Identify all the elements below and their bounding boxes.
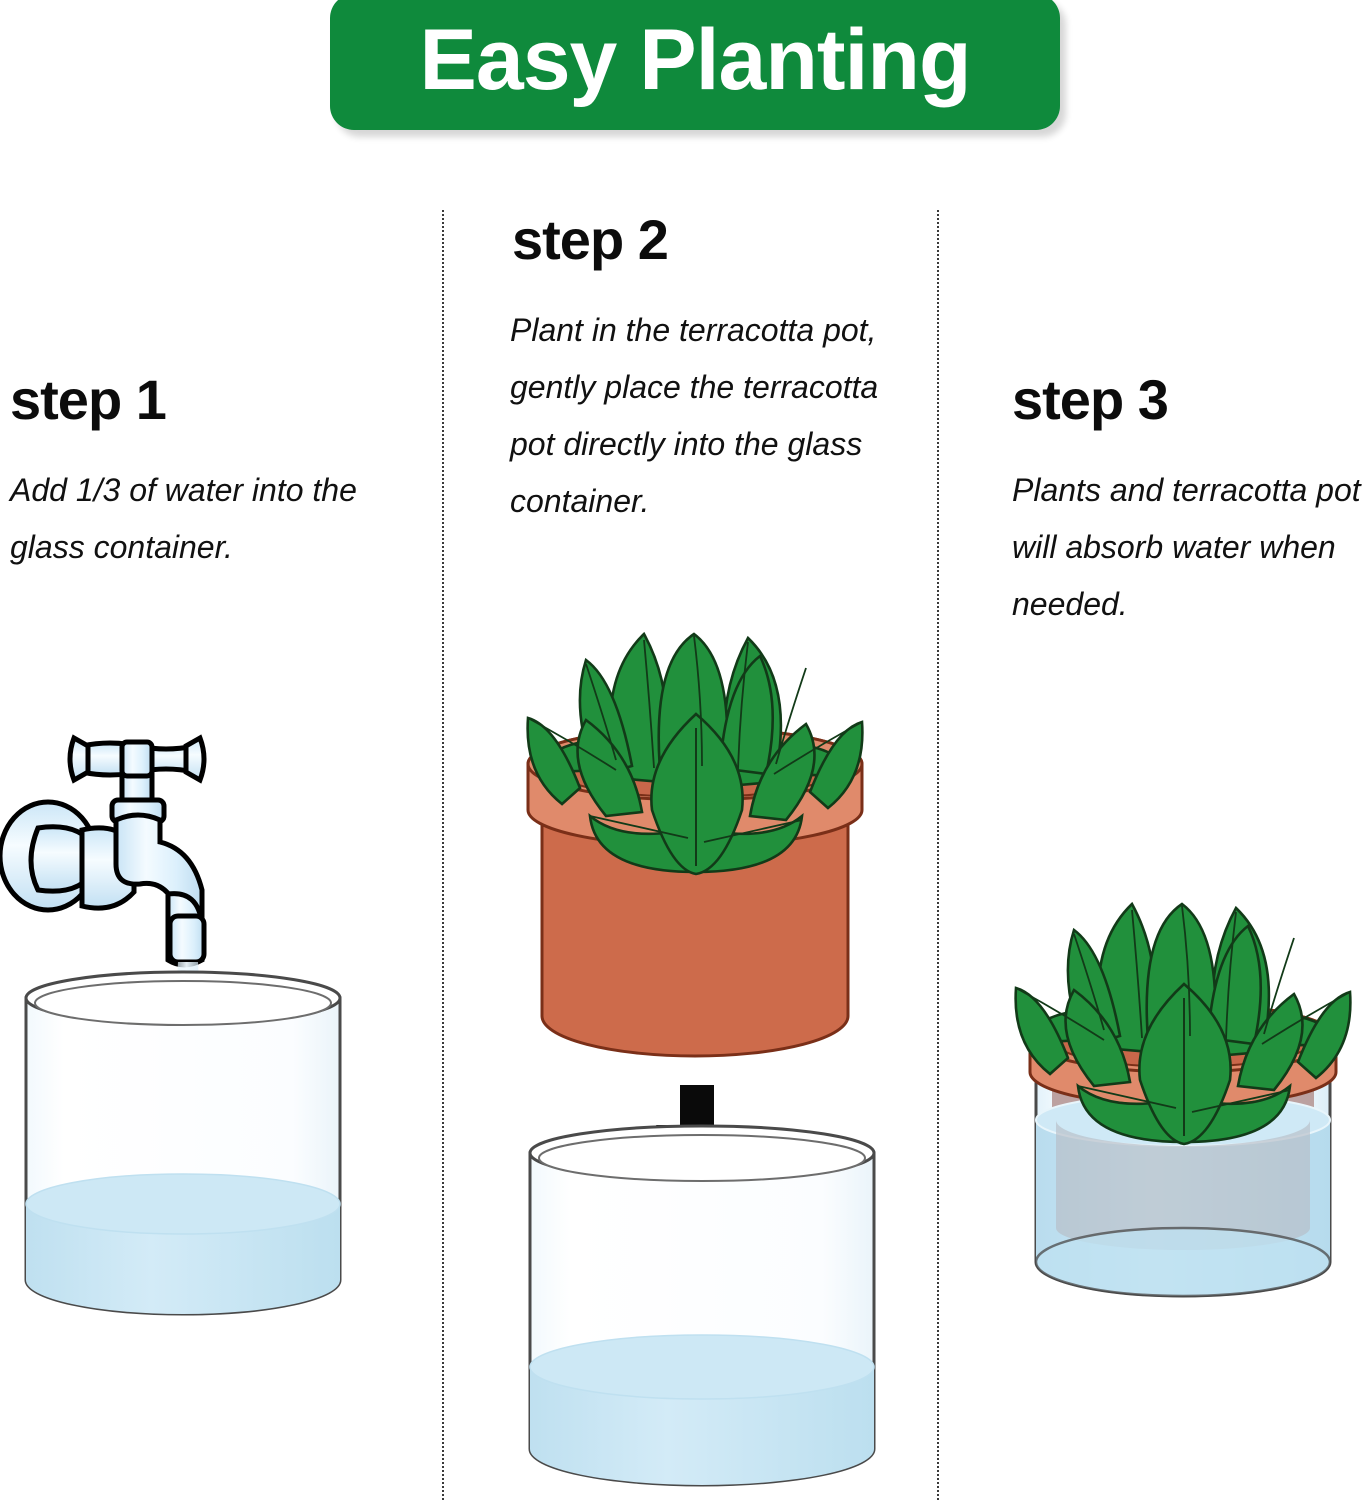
water-surface [26, 1174, 340, 1234]
assembled-planter-illustration [1008, 820, 1358, 1330]
step-1-body: Add 1/3 of water into the glass containe… [10, 462, 390, 576]
glass-container-step1 [18, 972, 348, 1332]
faucet-outlet [170, 916, 204, 962]
divider-2 [937, 210, 939, 1500]
step-2-heading: step 2 [512, 212, 668, 268]
glass-rim-inner [35, 981, 331, 1025]
step-2-body: Plant in the terracotta pot, gently plac… [510, 302, 886, 530]
potted-succulent-illustration [520, 596, 870, 1086]
step-1-heading: step 1 [10, 372, 166, 428]
divider-1 [442, 210, 444, 1500]
infographic-page: Easy Planting step 1 Add 1/3 of water in… [0, 0, 1370, 1500]
step-3-heading: step 3 [1012, 372, 1168, 428]
header-banner: Easy Planting [330, 0, 1060, 130]
faucet-handle-hub [122, 742, 152, 776]
water-surface [530, 1335, 874, 1399]
faucet-handle-left-cap [70, 738, 88, 780]
glass-rim-inner [539, 1135, 865, 1181]
glass-bottom [1036, 1228, 1330, 1296]
faucet-handle-right-cap [186, 738, 204, 780]
page-title: Easy Planting [420, 17, 971, 107]
step-3-body: Plants and terracotta pot will absorb wa… [1012, 462, 1370, 633]
glass-container-step2 [522, 1125, 882, 1500]
